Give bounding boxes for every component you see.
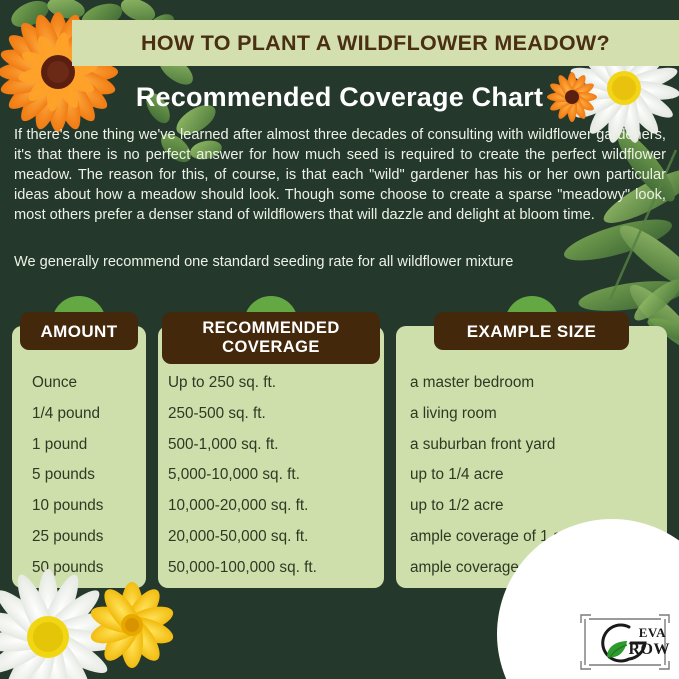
table-row: 250-500 sq. ft. bbox=[168, 399, 384, 430]
table-row: 10,000-20,000 sq. ft. bbox=[168, 491, 384, 522]
table-row: 1 pound bbox=[32, 430, 146, 461]
table-row: Ounce bbox=[32, 368, 146, 399]
white-daisy-bottom-left bbox=[0, 569, 117, 679]
table-row: 10 pounds bbox=[32, 491, 146, 522]
page-title: HOW TO PLANT A WILDFLOWER MEADOW? bbox=[141, 31, 610, 56]
column-rows-recommended-coverage: Up to 250 sq. ft. 250-500 sq. ft. 500-1,… bbox=[158, 368, 384, 584]
title-banner: HOW TO PLANT A WILDFLOWER MEADOW? bbox=[72, 20, 679, 66]
column-header-recommended-coverage: RECOMMENDED COVERAGE bbox=[162, 312, 380, 364]
table-row: 500-1,000 sq. ft. bbox=[168, 430, 384, 461]
column-header-label: AMOUNT bbox=[41, 322, 118, 341]
table-row: a suburban front yard bbox=[410, 430, 667, 461]
subtitle-bar: Recommended Coverage Chart bbox=[0, 76, 679, 118]
column-amount: AMOUNT Ounce 1/4 pound 1 pound 5 pounds … bbox=[12, 296, 146, 592]
table-row: 1/4 pound bbox=[32, 399, 146, 430]
table-row: 5 pounds bbox=[32, 460, 146, 491]
eva-grow-logo: EVA ROW bbox=[577, 613, 673, 671]
table-row: up to 1/2 acre bbox=[410, 491, 667, 522]
column-recommended-coverage: RECOMMENDED COVERAGE Up to 250 sq. ft. 2… bbox=[158, 296, 384, 592]
table-row: a master bedroom bbox=[410, 368, 667, 399]
bottom-flowers bbox=[0, 559, 230, 679]
table-row: 5,000-10,000 sq. ft. bbox=[168, 460, 384, 491]
table-row: 25 pounds bbox=[32, 522, 146, 553]
column-rows-amount: Ounce 1/4 pound 1 pound 5 pounds 10 poun… bbox=[12, 368, 146, 584]
intro-paragraph: If there's one thing we've learned after… bbox=[14, 125, 666, 225]
column-header-label: EXAMPLE SIZE bbox=[467, 322, 597, 341]
page-subtitle: Recommended Coverage Chart bbox=[136, 82, 543, 113]
column-header-amount: AMOUNT bbox=[20, 312, 138, 350]
logo-text-eva: EVA bbox=[639, 625, 666, 641]
table-row: Up to 250 sq. ft. bbox=[168, 368, 384, 399]
logo-text-row: ROW bbox=[629, 641, 671, 659]
infographic-canvas: HOW TO PLANT A WILDFLOWER MEADOW? Recomm… bbox=[0, 0, 679, 679]
table-row: 20,000-50,000 sq. ft. bbox=[168, 522, 384, 553]
column-header-example-size: EXAMPLE SIZE bbox=[434, 312, 629, 350]
table-row: a living room bbox=[410, 399, 667, 430]
column-header-label: RECOMMENDED COVERAGE bbox=[172, 319, 370, 357]
table-row: up to 1/4 acre bbox=[410, 460, 667, 491]
recommendation-paragraph: We generally recommend one standard seed… bbox=[14, 252, 666, 272]
